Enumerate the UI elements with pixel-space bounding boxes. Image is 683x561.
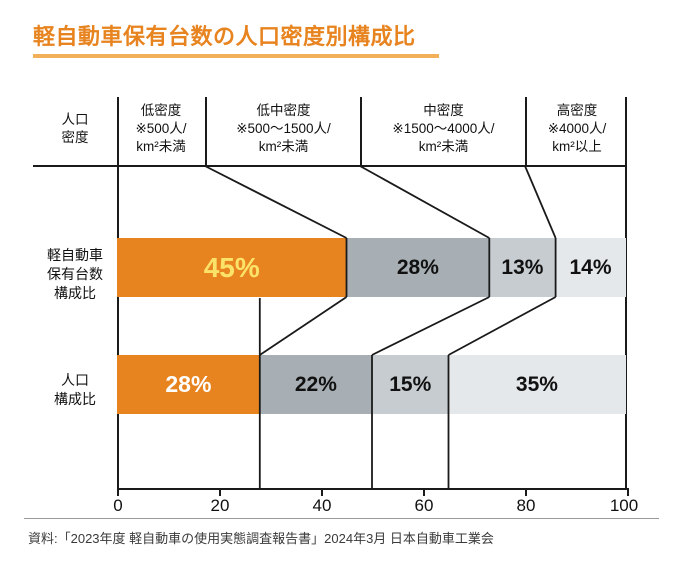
header-cell-note1: ※1500〜4000人/ — [392, 120, 494, 138]
header-cell-name: 高密度 — [557, 102, 598, 120]
header-axis-label-line1: 人口 — [62, 111, 89, 129]
header-cell-note2: km²未満 — [419, 138, 469, 156]
row-label-line3: 構成比 — [33, 284, 117, 303]
x-tick-60 — [423, 489, 425, 496]
plot-right-border — [625, 166, 627, 489]
source-note: 資料:「2023年度 軽自動車の使用実態調査報告書」2024年3月 日本自動車工… — [28, 528, 494, 547]
bar-segment-low-mid-density[interactable]: 28% — [347, 238, 490, 297]
bar-segment-mid-density[interactable]: 15% — [372, 355, 449, 414]
header-axis-label-line2: 密度 — [62, 129, 89, 147]
bar-segment-value: 35% — [516, 373, 558, 397]
row-label-kei-vehicle-share: 軽自動車 保有台数 構成比 — [33, 246, 117, 303]
page-title: 軽自動車保有台数の人口密度別構成比 — [33, 26, 439, 48]
header-cell-note2: km²以上 — [552, 138, 602, 156]
row-label-line1: 軽自動車 — [33, 246, 117, 265]
header-cell-name: 低密度 — [141, 102, 182, 120]
header-cell-note1: ※500人/ — [135, 120, 186, 138]
x-tick-100 — [627, 489, 629, 496]
bar-segment-value: 22% — [295, 373, 337, 397]
bar-segment-value: 45% — [204, 252, 260, 284]
x-tick-label-60: 60 — [415, 496, 434, 516]
x-tick-40 — [321, 489, 323, 496]
bar-segment-value: 13% — [501, 256, 543, 280]
header-cell-name: 低中密度 — [257, 102, 311, 120]
bar-segment-mid-density[interactable]: 13% — [489, 238, 555, 297]
x-tick-20 — [219, 489, 221, 496]
row-label-line2: 構成比 — [33, 390, 117, 409]
x-tick-label-100: 100 — [610, 496, 638, 516]
bar-segment-low-density[interactable]: 28% — [117, 355, 260, 414]
bar-segment-value: 28% — [165, 371, 211, 398]
x-tick-label-20: 20 — [211, 496, 230, 516]
bar-segment-high-density[interactable]: 35% — [449, 355, 626, 414]
header-cell-low-density: 低密度 ※500人/ km²未満 — [119, 93, 203, 165]
bar-segment-value: 15% — [389, 373, 431, 397]
title-block: 軽自動車保有台数の人口密度別構成比 — [33, 26, 439, 58]
bar-segment-value: 14% — [569, 256, 611, 280]
header-cell-note1: ※4000人/ — [548, 120, 607, 138]
title-underline — [33, 54, 439, 58]
bar-group-population-share: 28% 22% 15% 35% — [117, 355, 627, 414]
header-axis-label: 人口 密度 — [33, 93, 117, 165]
row-label-population-share: 人口 構成比 — [33, 371, 117, 409]
x-tick-80 — [525, 489, 527, 496]
y-axis-line — [117, 166, 119, 489]
bar-segment-value: 28% — [397, 256, 439, 280]
header-cell-note2: km²未満 — [136, 138, 186, 156]
x-tick-label-0: 0 — [113, 496, 122, 516]
header-cell-note1: ※500〜1500人/ — [236, 120, 331, 138]
x-axis-line — [117, 488, 629, 490]
x-tick-label-80: 80 — [517, 496, 536, 516]
footer-divider — [24, 518, 659, 519]
header-cell-high-density: 高密度 ※4000人/ km²以上 — [527, 93, 627, 165]
bar-segment-low-mid-density[interactable]: 22% — [260, 355, 372, 414]
x-tick-0 — [117, 489, 119, 496]
row-label-line2: 保有台数 — [33, 265, 117, 284]
plot-area: 45% 28% 13% 14% 28% 22% 15% 35% — [117, 166, 627, 489]
header-cell-note2: km²未満 — [259, 138, 309, 156]
bar-segment-low-density[interactable]: 45% — [117, 238, 347, 297]
header-divider-4 — [625, 97, 627, 165]
row-label-line1: 人口 — [33, 371, 117, 390]
header-cell-name: 中密度 — [423, 102, 464, 120]
bar-group-kei-vehicle-share: 45% 28% 13% 14% — [117, 238, 627, 297]
density-header-row: 人口 密度 低密度 ※500人/ km²未満 低中密度 ※500〜1500人/ … — [33, 93, 627, 165]
x-tick-label-40: 40 — [313, 496, 332, 516]
header-cell-mid-density: 中密度 ※1500〜4000人/ km²未満 — [362, 93, 525, 165]
header-cell-low-mid-density: 低中密度 ※500〜1500人/ km²未満 — [207, 93, 360, 165]
bar-segment-high-density[interactable]: 14% — [556, 238, 626, 297]
